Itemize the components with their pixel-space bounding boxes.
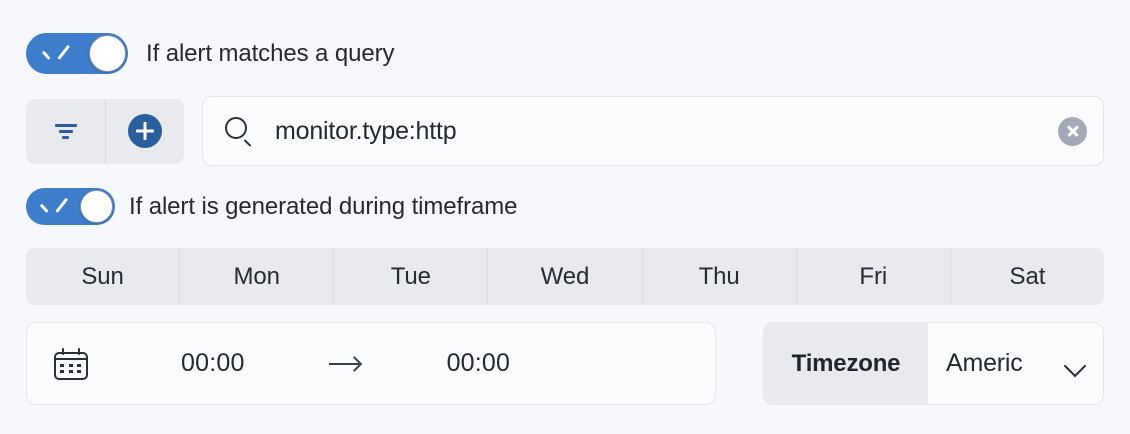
day-button-tue[interactable]: Tue	[333, 248, 487, 305]
query-condition-label: If alert matches a query	[146, 40, 394, 68]
query-condition-row: If alert matches a query	[26, 33, 394, 74]
query-search-field[interactable]: monitor.type:http	[202, 96, 1104, 166]
day-button-sat[interactable]: Sat	[950, 248, 1104, 305]
add-query-button[interactable]	[105, 99, 184, 164]
toggle-knob	[80, 190, 113, 223]
query-button-group	[26, 99, 184, 164]
time-range-picker[interactable]: 00:00 00:00	[26, 322, 716, 405]
timeframe-condition-row: If alert is generated during timeframe	[26, 188, 517, 225]
arrow-right-icon	[329, 355, 361, 373]
chevron-down-icon	[1065, 358, 1087, 370]
toggle-knob	[89, 35, 126, 72]
day-label: Wed	[541, 263, 590, 291]
calendar-icon	[54, 348, 88, 380]
timezone-value: Americ	[946, 349, 1061, 378]
time-range-end[interactable]: 00:00	[447, 349, 511, 378]
timezone-label: Timezone	[764, 323, 928, 404]
day-label: Mon	[234, 263, 280, 291]
day-label: Sun	[81, 263, 123, 291]
day-button-sun[interactable]: Sun	[26, 248, 179, 305]
day-button-thu[interactable]: Thu	[642, 248, 796, 305]
check-icon	[45, 46, 67, 59]
day-of-week-selector: Sun Mon Tue Wed Thu Fri Sat	[26, 248, 1104, 305]
timeframe-condition-label: If alert is generated during timeframe	[129, 193, 517, 221]
day-button-fri[interactable]: Fri	[796, 248, 950, 305]
query-bar: monitor.type:http	[26, 96, 1104, 166]
day-button-wed[interactable]: Wed	[487, 248, 641, 305]
plus-circle-icon	[128, 114, 162, 148]
filter-icon	[55, 122, 77, 140]
alert-conditions-panel: If alert matches a query monitor.type:ht…	[0, 0, 1130, 434]
timezone-control: Timezone Americ	[763, 322, 1104, 405]
day-button-mon[interactable]: Mon	[179, 248, 333, 305]
day-label: Fri	[859, 263, 887, 291]
filter-button[interactable]	[26, 99, 105, 164]
check-icon	[43, 200, 63, 212]
query-search-input[interactable]: monitor.type:http	[275, 117, 1058, 146]
timeframe-condition-toggle[interactable]	[26, 188, 115, 225]
day-label: Thu	[699, 263, 740, 291]
clear-search-icon[interactable]	[1058, 117, 1087, 146]
query-condition-toggle[interactable]	[26, 33, 128, 74]
timezone-dropdown[interactable]: Americ	[928, 323, 1103, 404]
search-icon	[225, 117, 253, 145]
day-label: Tue	[391, 263, 431, 291]
time-range-start[interactable]: 00:00	[181, 349, 245, 378]
day-label: Sat	[1010, 263, 1046, 291]
